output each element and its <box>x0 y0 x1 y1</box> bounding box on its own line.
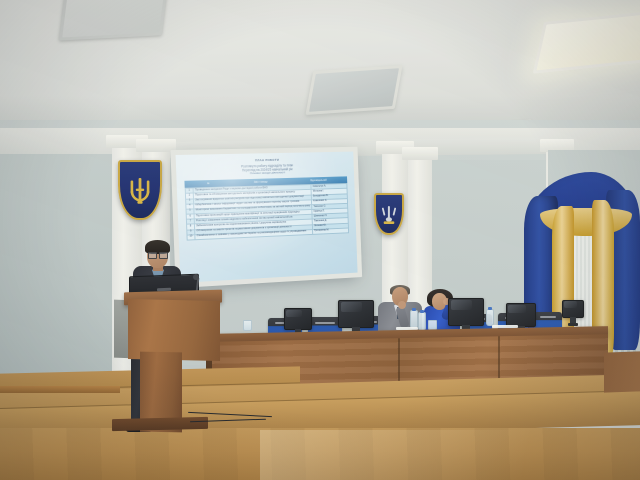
monitor[interactable] <box>562 300 584 318</box>
projector-glow <box>176 152 358 283</box>
water-bottle[interactable] <box>418 312 426 331</box>
projection-screen: ПЛАН РОБОТИ Розглянуто роботу підрозділу… <box>176 152 358 283</box>
ceiling-light-left <box>59 0 167 41</box>
tryzub-icon <box>128 176 152 206</box>
presentation-slide: ПЛАН РОБОТИ Розглянуто роботу підрозділу… <box>176 152 358 283</box>
ukraine-coat-of-arms-icon <box>118 160 162 220</box>
microphone-icon[interactable] <box>193 274 199 280</box>
floor-reflection <box>260 430 640 480</box>
glasses-icon <box>148 252 167 257</box>
monitor[interactable] <box>338 300 374 328</box>
drinking-glass[interactable] <box>243 320 252 331</box>
emblem-device-icon <box>381 204 398 226</box>
institutional-emblem-icon <box>374 193 404 235</box>
seated-man-hand <box>398 301 406 309</box>
water-bottle[interactable] <box>486 309 494 326</box>
monitor[interactable] <box>506 303 536 327</box>
conference-hall-photo: ПЛАН РОБОТИ Розглянуто роботу підрозділу… <box>0 0 640 480</box>
left-wall-panel <box>0 140 120 390</box>
podium-base <box>112 417 208 431</box>
monitor[interactable] <box>284 308 312 330</box>
monitor[interactable] <box>448 298 484 326</box>
side-desk <box>604 351 640 392</box>
baseboard <box>0 386 120 393</box>
